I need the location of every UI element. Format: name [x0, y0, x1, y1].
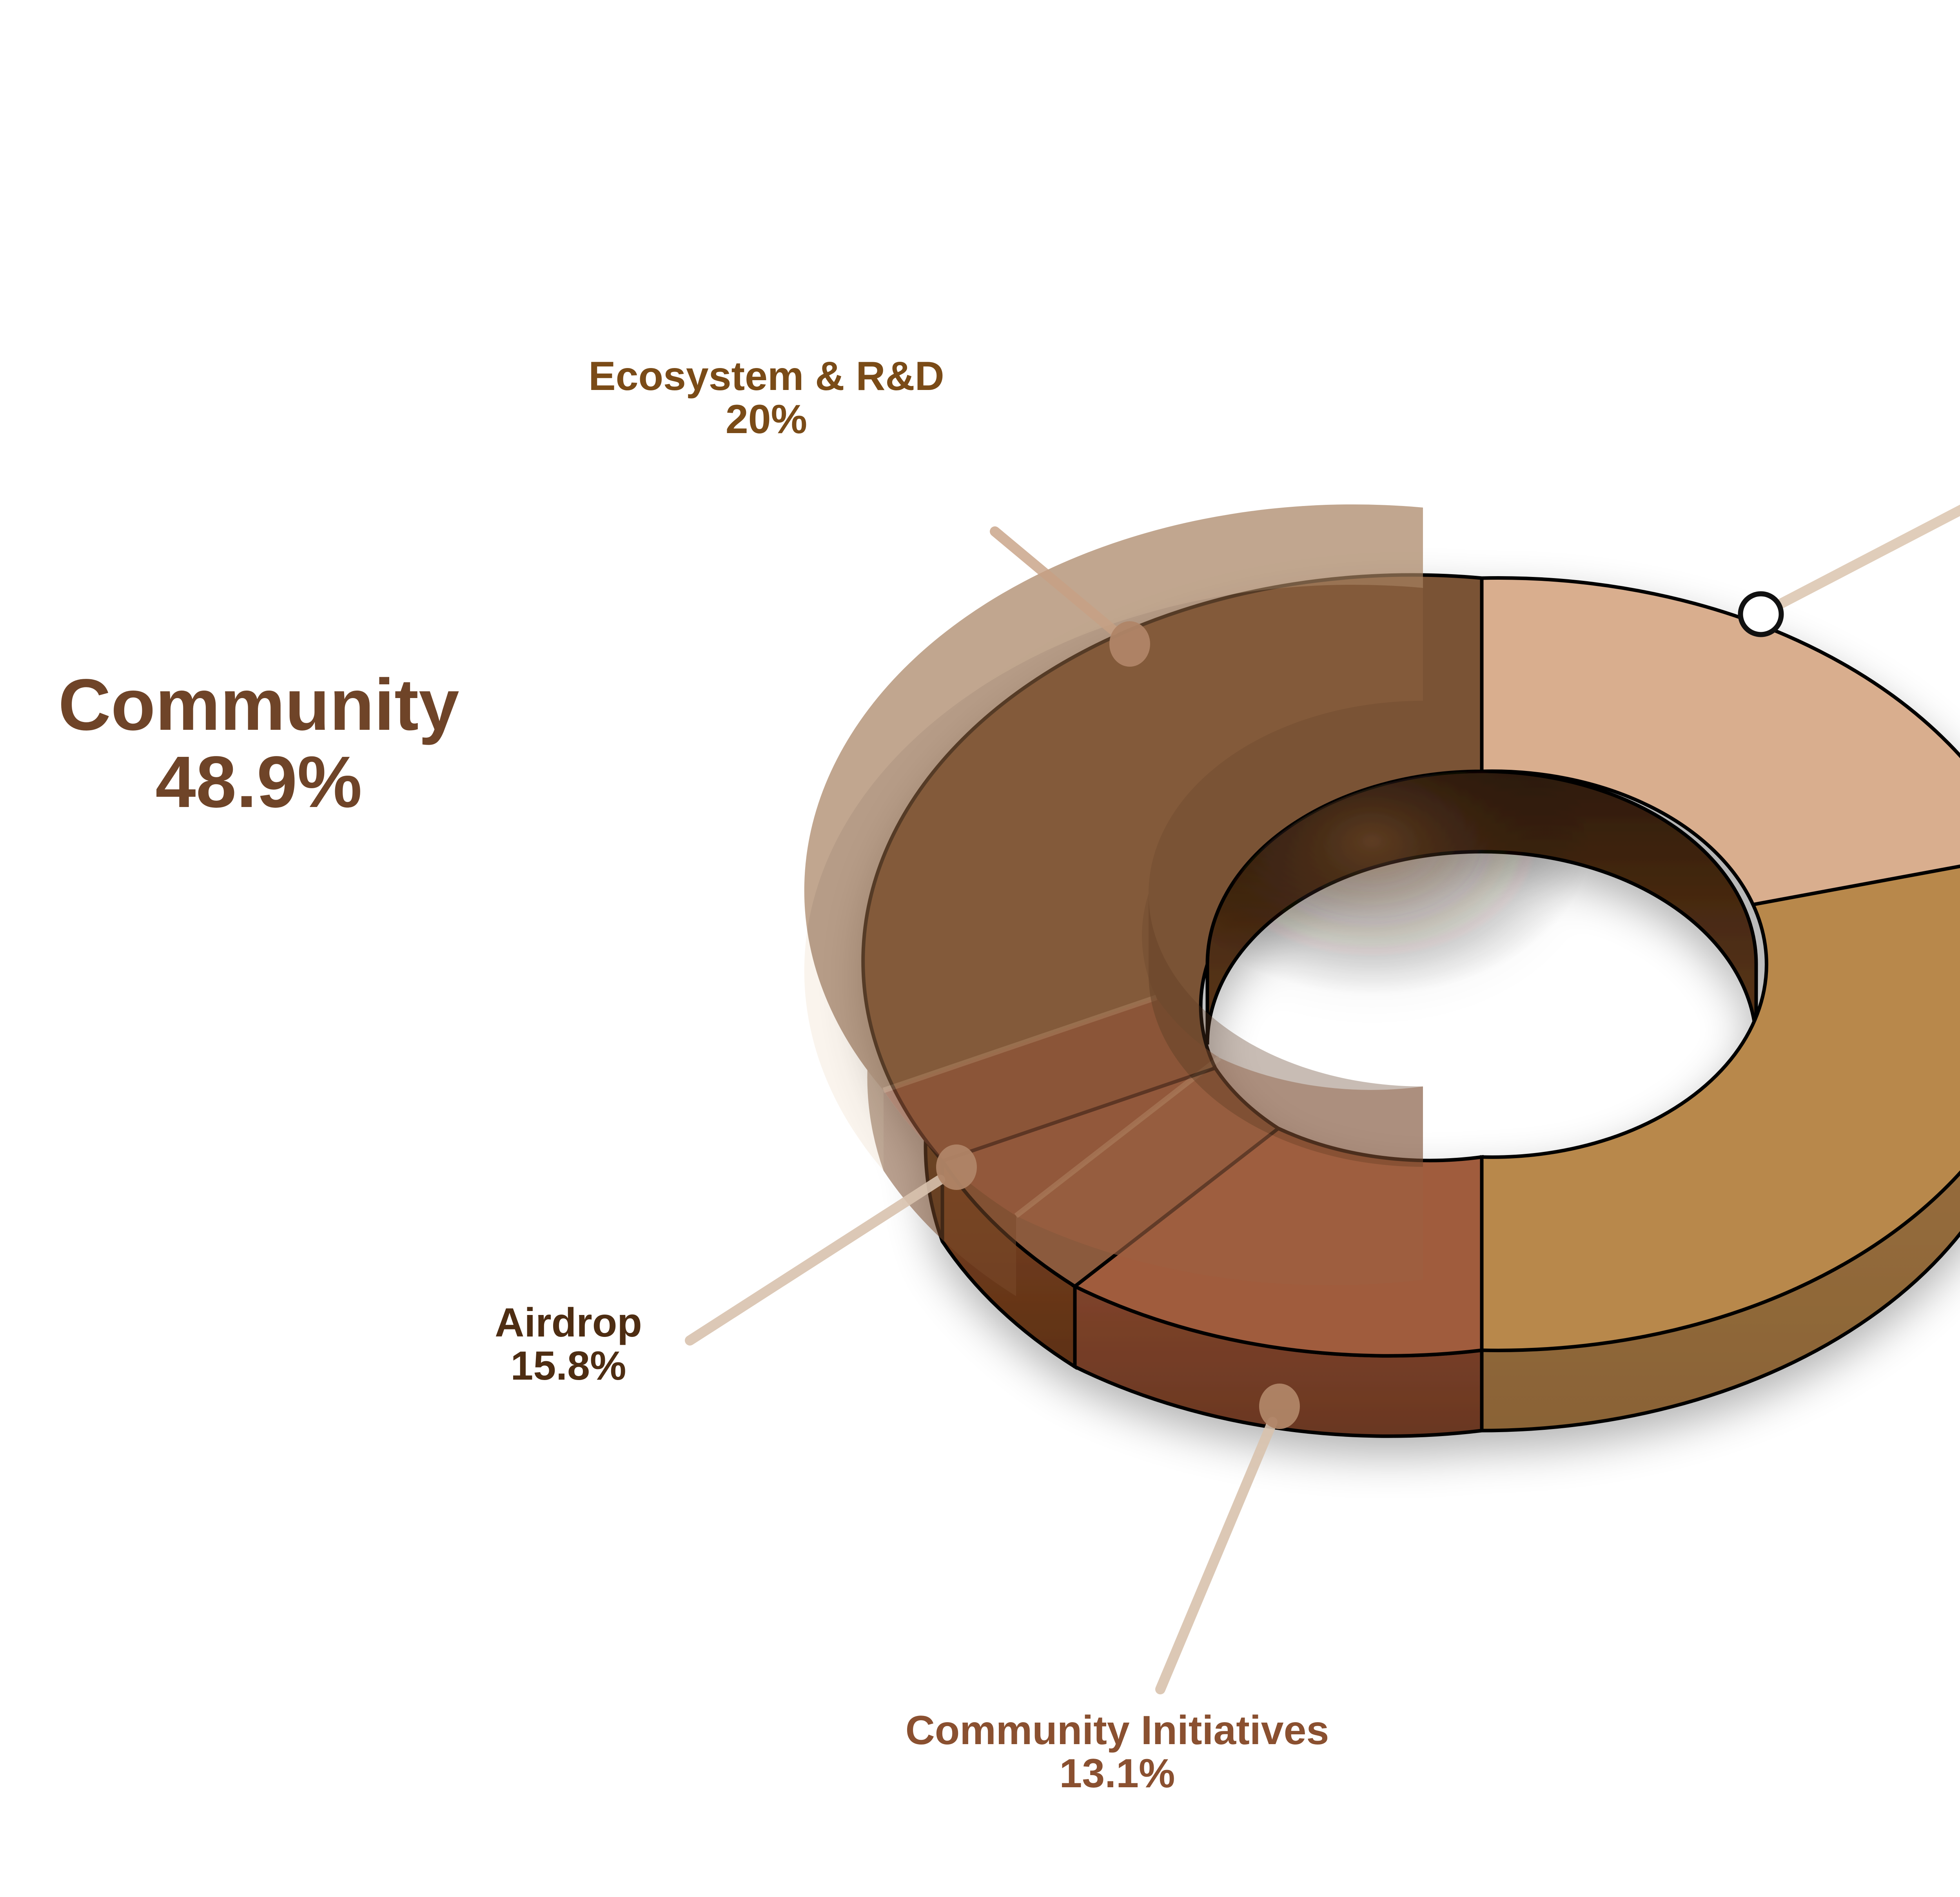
- label-community: Community 48.9%: [0, 666, 517, 821]
- label-community-name: Community: [0, 666, 517, 744]
- label-airdrop-percent: 15.8%: [396, 1344, 741, 1387]
- label-ecosystem-rnd: Ecosystem & R&D 20%: [508, 355, 1025, 441]
- leader-line-community-initiatives: [1160, 1422, 1272, 1689]
- label-community-initiatives-percent: 13.1%: [780, 1752, 1454, 1795]
- label-community-percent: 48.9%: [0, 744, 517, 821]
- leader-line-initial-core-contributors: [1776, 392, 1960, 606]
- chart-canvas: Initial Core Contributors 16.8% Investor…: [0, 0, 1960, 1897]
- label-airdrop-name: Airdrop: [396, 1301, 741, 1344]
- label-ecosystem-rnd-name: Ecosystem & R&D: [508, 355, 1025, 398]
- marker-ecosystem-rnd: [1109, 621, 1150, 667]
- marker-community-initiatives: [1259, 1384, 1300, 1429]
- donut-chart-graphic: [0, 0, 1960, 1897]
- marker-airdrop: [936, 1144, 977, 1190]
- label-community-initiatives-name: Community Initiatives: [780, 1709, 1454, 1752]
- label-airdrop: Airdrop 15.8%: [396, 1301, 741, 1387]
- label-community-initiatives: Community Initiatives 13.1%: [780, 1709, 1454, 1795]
- marker-initial-core-contributors: [1740, 594, 1781, 635]
- label-ecosystem-rnd-percent: 20%: [508, 398, 1025, 441]
